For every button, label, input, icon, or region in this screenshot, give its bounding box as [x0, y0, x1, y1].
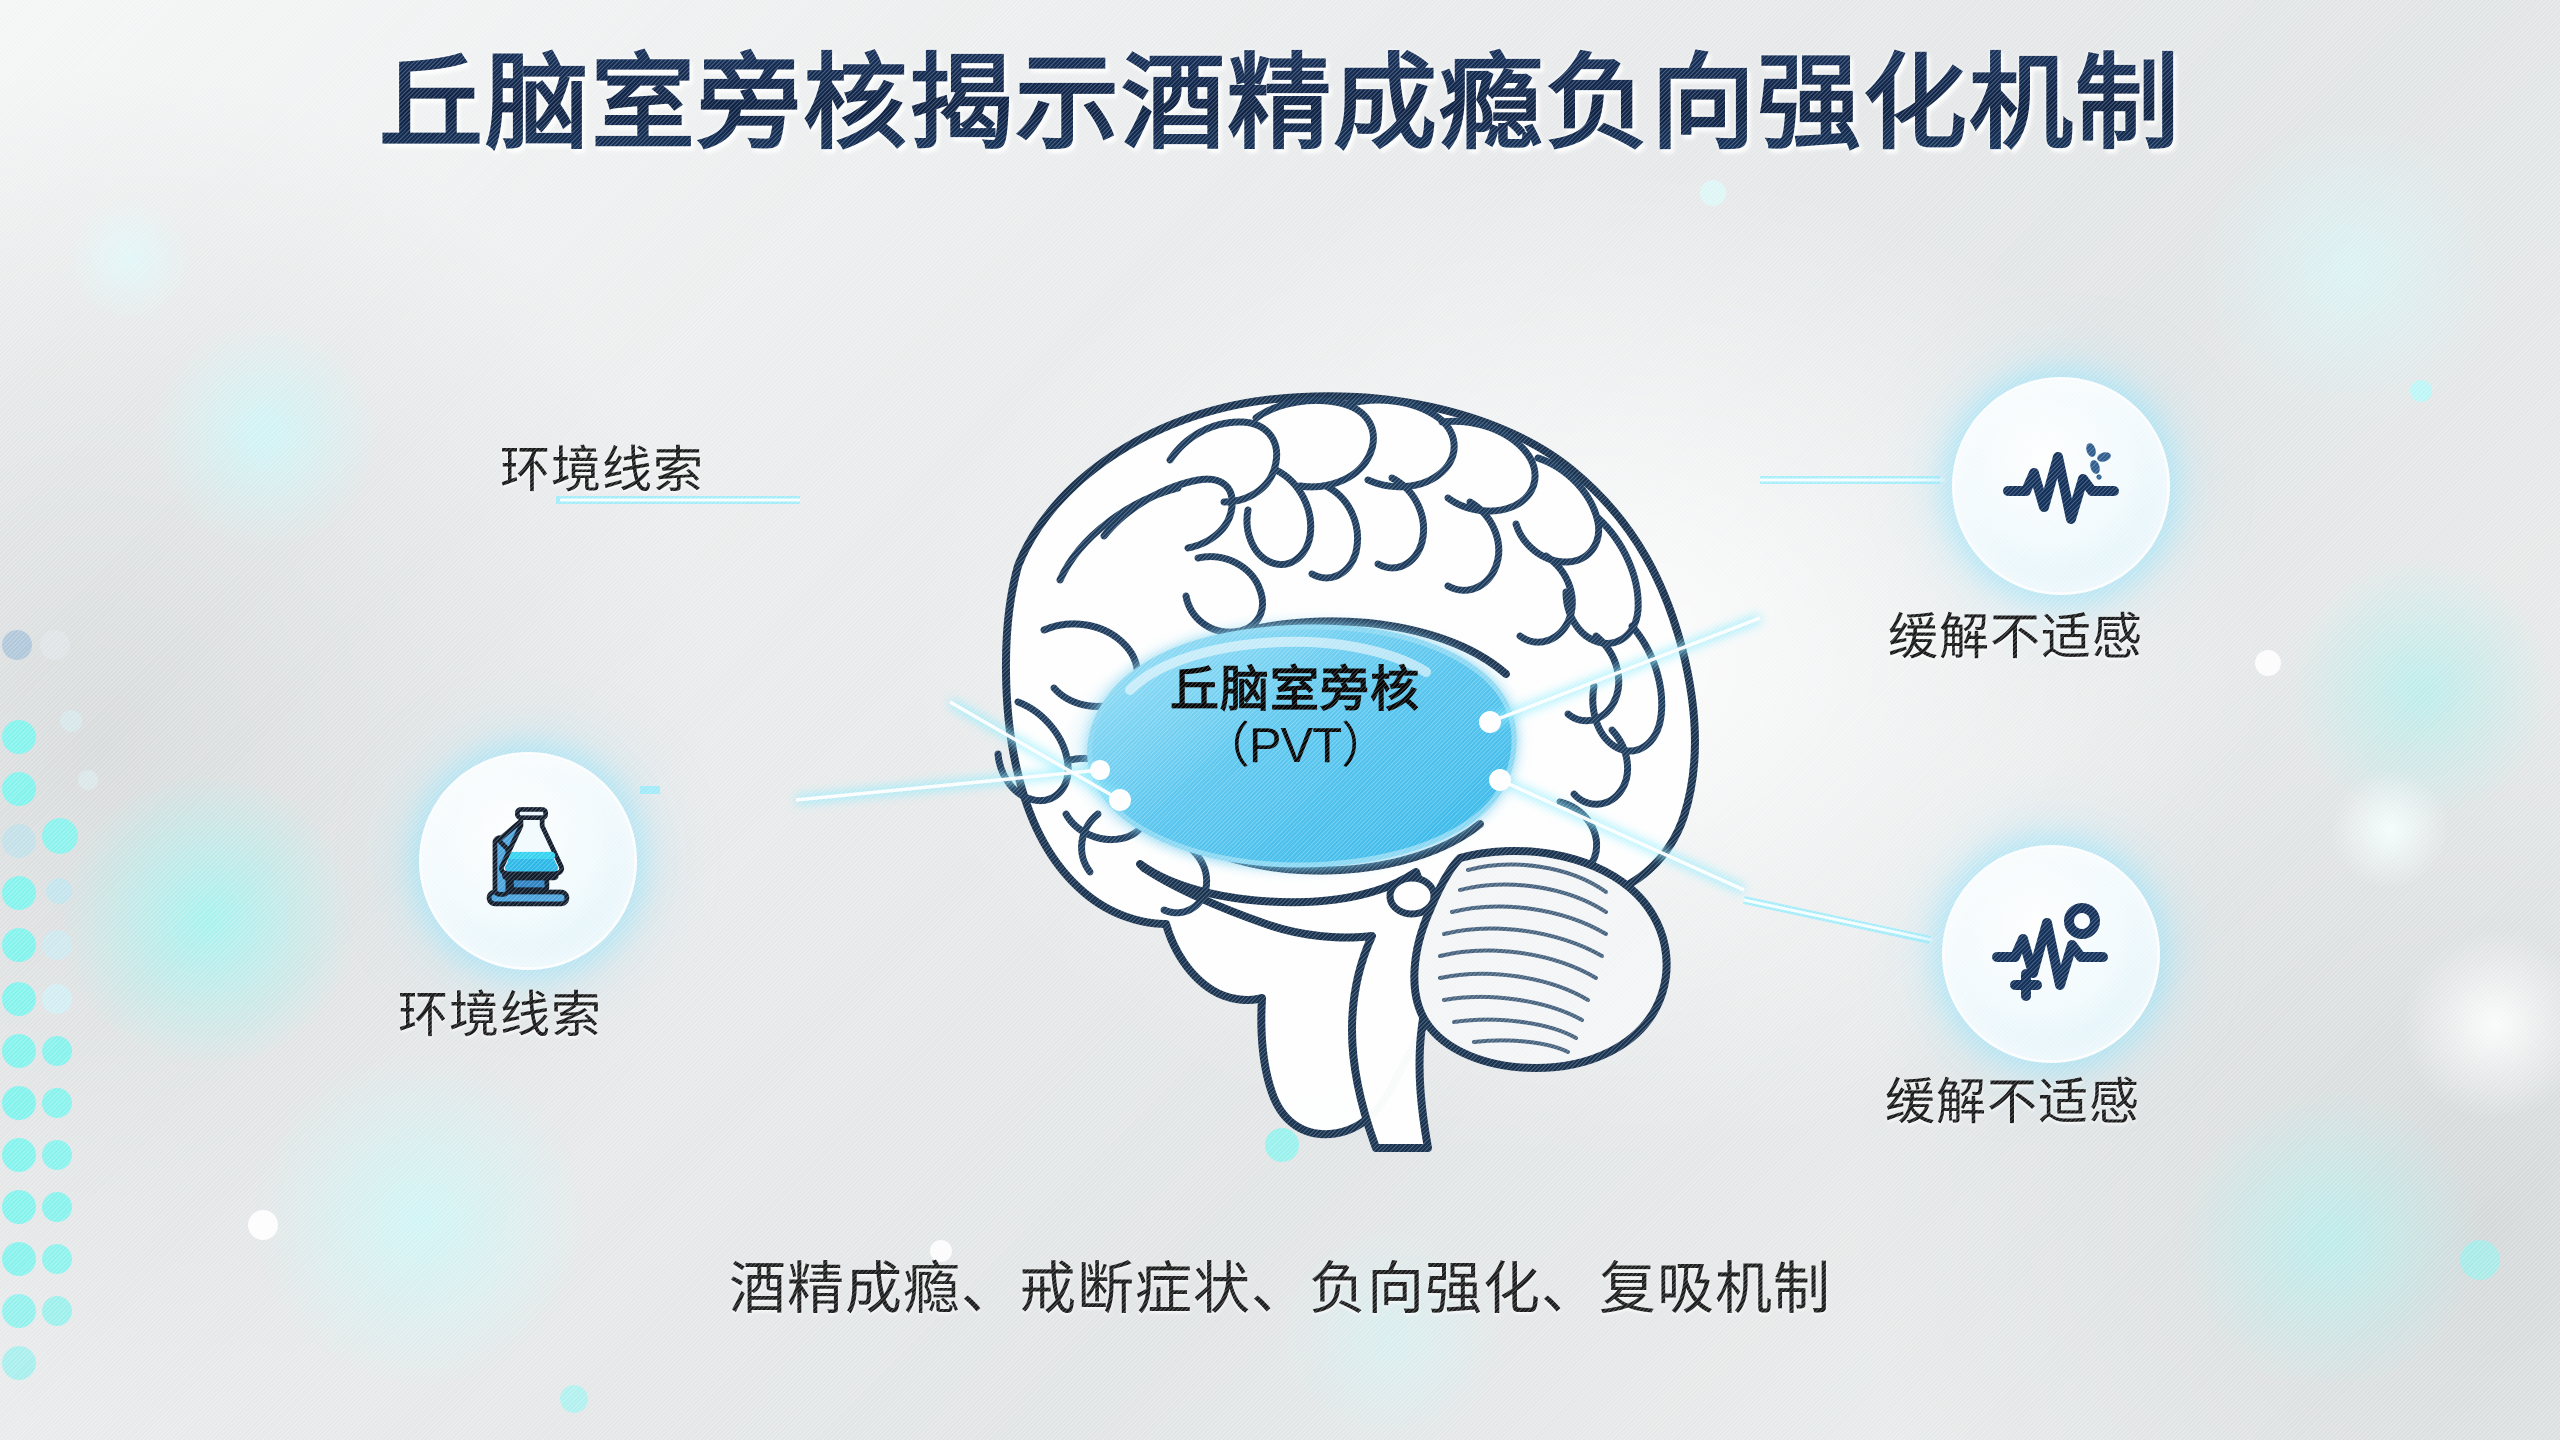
bokeh-circle	[2400, 930, 2560, 1120]
brain-illustration-svg	[700, 330, 1860, 1160]
grid-dot	[46, 878, 72, 904]
grid-dot	[2, 720, 36, 754]
bokeh-circle	[250, 1050, 590, 1390]
bokeh-circle	[2180, 1090, 2480, 1390]
page-title: 丘脑室旁核揭示酒精成瘾负向强化机制	[0, 48, 2560, 160]
grid-dot	[42, 1140, 72, 1170]
grid-dot	[2, 1190, 36, 1224]
grid-dot	[42, 818, 78, 854]
pulse-wave-person-plus-icon	[1985, 893, 2117, 1016]
grid-dot	[78, 770, 98, 790]
bokeh-dot	[2410, 380, 2432, 402]
brain-diagram	[700, 330, 1860, 1160]
grid-dot	[42, 1088, 72, 1118]
bokeh-circle	[2200, 120, 2500, 420]
grid-dot	[2, 1086, 36, 1120]
grid-dot	[2, 772, 36, 806]
infographic-canvas: 丘脑室旁核揭示酒精成瘾负向强化机制	[0, 0, 2560, 1440]
grid-dot	[2, 928, 36, 962]
grid-dot	[60, 710, 82, 732]
bokeh-dot	[248, 1210, 278, 1240]
grid-dot	[2, 630, 32, 660]
grid-dot	[2, 982, 36, 1016]
badge-lab-bottom-left[interactable]	[422, 755, 634, 967]
grid-dot	[42, 1192, 72, 1222]
pulse-wave-sparkle-icon	[1996, 429, 2126, 544]
grid-dot	[2, 876, 36, 910]
footer-keywords: 酒精成瘾、戒断症状、负向强化、复吸机制	[0, 1243, 2560, 1325]
grid-dot	[42, 984, 72, 1014]
bokeh-dot	[2255, 650, 2281, 676]
bokeh-circle	[2290, 560, 2550, 820]
grid-dot	[42, 1036, 72, 1066]
node-label-relief-bottom-right: 缓解不适感	[1885, 1062, 2140, 1134]
bokeh-dot	[1700, 180, 1726, 206]
microscope-flask-icon	[469, 800, 587, 923]
badge-relief-top-right[interactable]	[1955, 380, 2167, 592]
grid-dot	[2, 1138, 36, 1172]
node-label-lab-bottom-left: 环境线索	[398, 975, 602, 1047]
badge-relief-bottom-right[interactable]	[1945, 848, 2157, 1060]
bokeh-circle	[150, 320, 380, 550]
bokeh-dot	[560, 1385, 588, 1413]
grid-dot	[40, 630, 70, 660]
grid-dot	[2, 1346, 36, 1380]
pvt-region[interactable]	[1060, 626, 1514, 874]
grid-dot	[2, 1034, 36, 1068]
grid-dot	[42, 930, 72, 960]
bokeh-circle	[70, 200, 190, 320]
grid-dot	[2, 824, 36, 858]
bokeh-circle	[58, 770, 358, 1070]
bokeh-circle	[2330, 770, 2450, 890]
node-label-relief-top-right: 缓解不适感	[1888, 597, 2143, 669]
cerebellum	[1414, 851, 1666, 1068]
node-label-env-cue-top-left: 环境线索	[500, 430, 704, 502]
